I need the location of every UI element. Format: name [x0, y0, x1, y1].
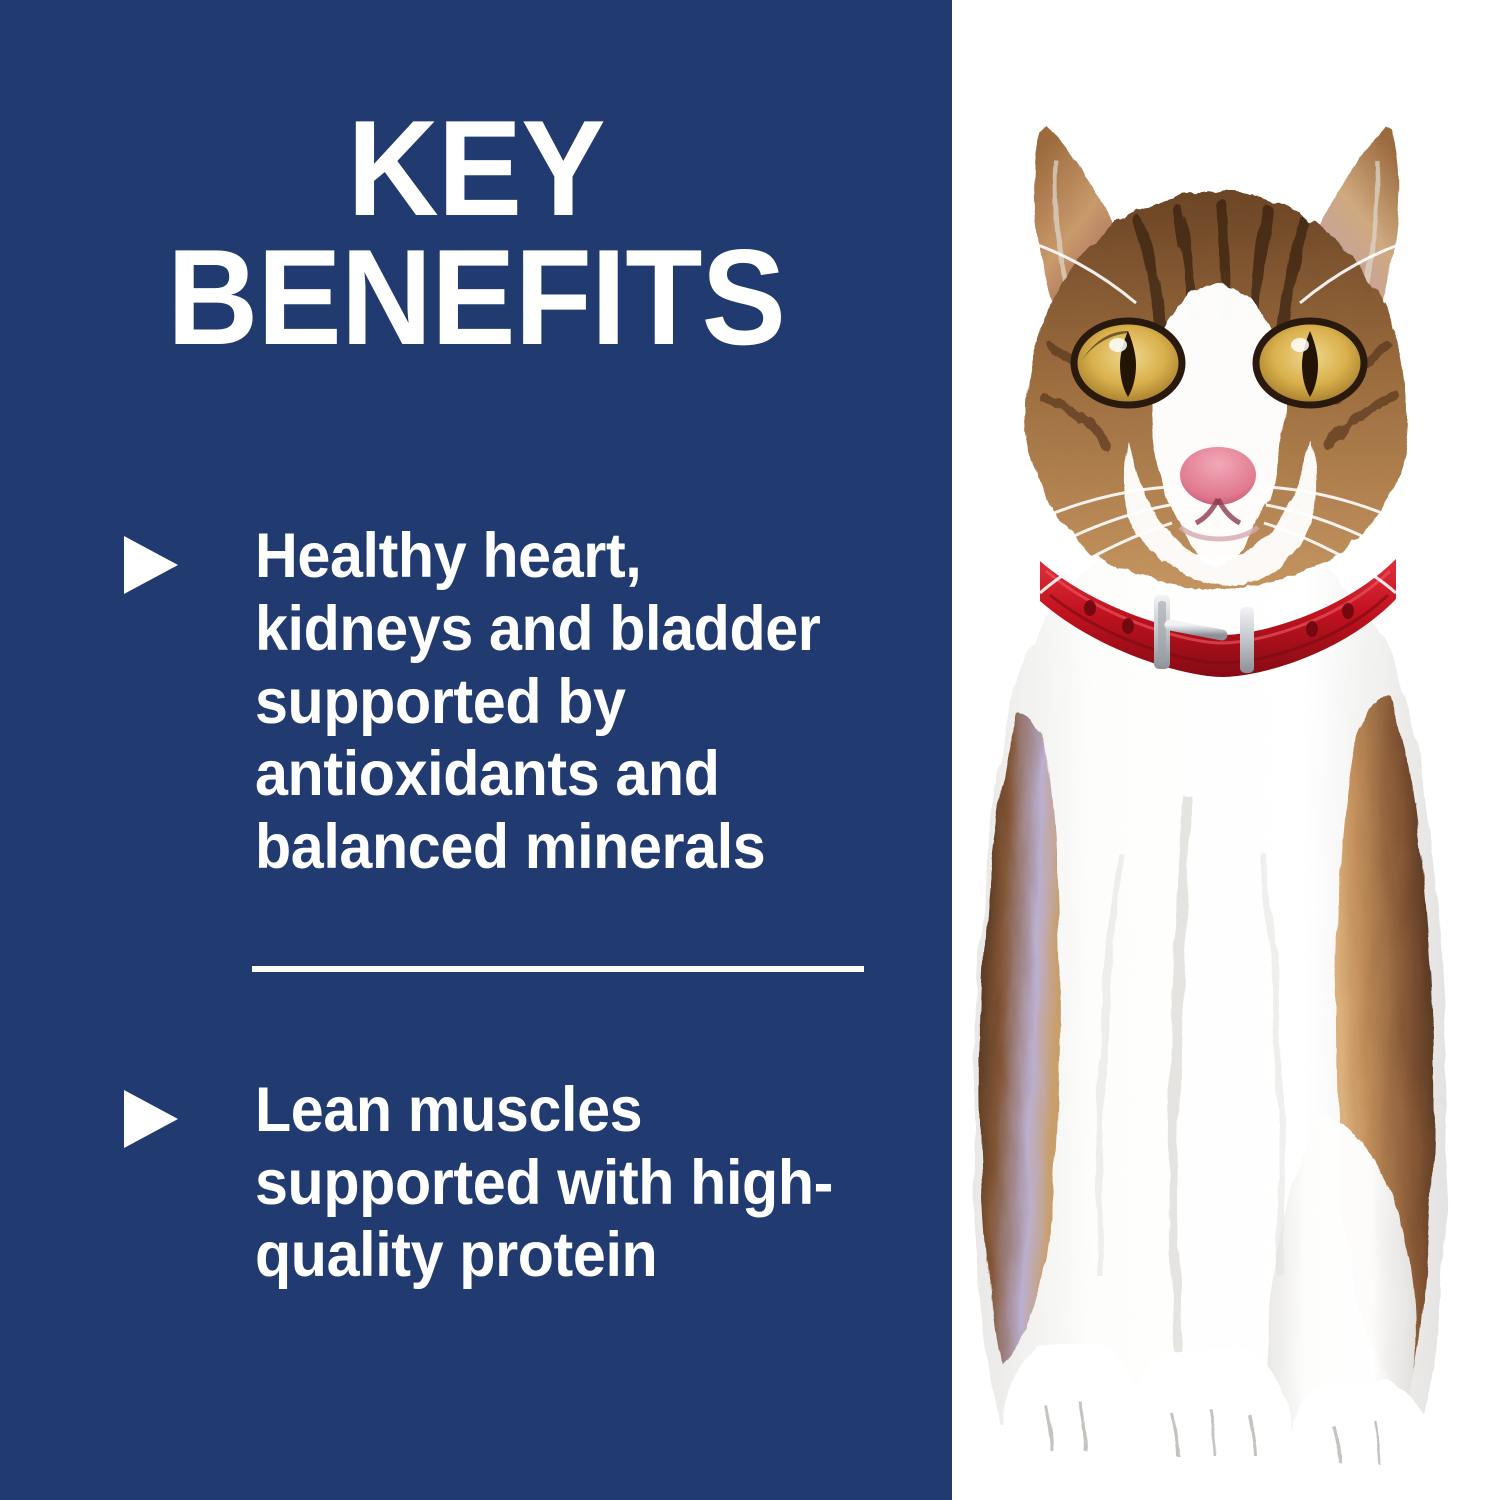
cat-photo [952, 95, 1482, 1495]
benefits-panel: KEY BENEFITS Healthy heart, kidneys and … [0, 0, 952, 1500]
page-title: KEY BENEFITS [33, 104, 918, 362]
benefit-item-1-text: Healthy heart, kidneys and bladder suppo… [255, 520, 838, 884]
photo-area [952, 0, 1500, 1500]
benefit-item-2: Lean muscles supported with high-quality… [0, 1074, 952, 1292]
triangle-right-icon [124, 1090, 178, 1148]
key-benefits-poster: KEY BENEFITS Healthy heart, kidneys and … [0, 0, 1500, 1500]
benefit-list: Healthy heart, kidneys and bladder suppo… [0, 520, 952, 1292]
benefit-item-1: Healthy heart, kidneys and bladder suppo… [0, 520, 952, 884]
cat-head [1002, 127, 1434, 593]
benefit-item-2-text: Lean muscles supported with high-quality… [255, 1074, 838, 1292]
triangle-right-icon [124, 536, 178, 594]
section-divider [252, 966, 864, 972]
